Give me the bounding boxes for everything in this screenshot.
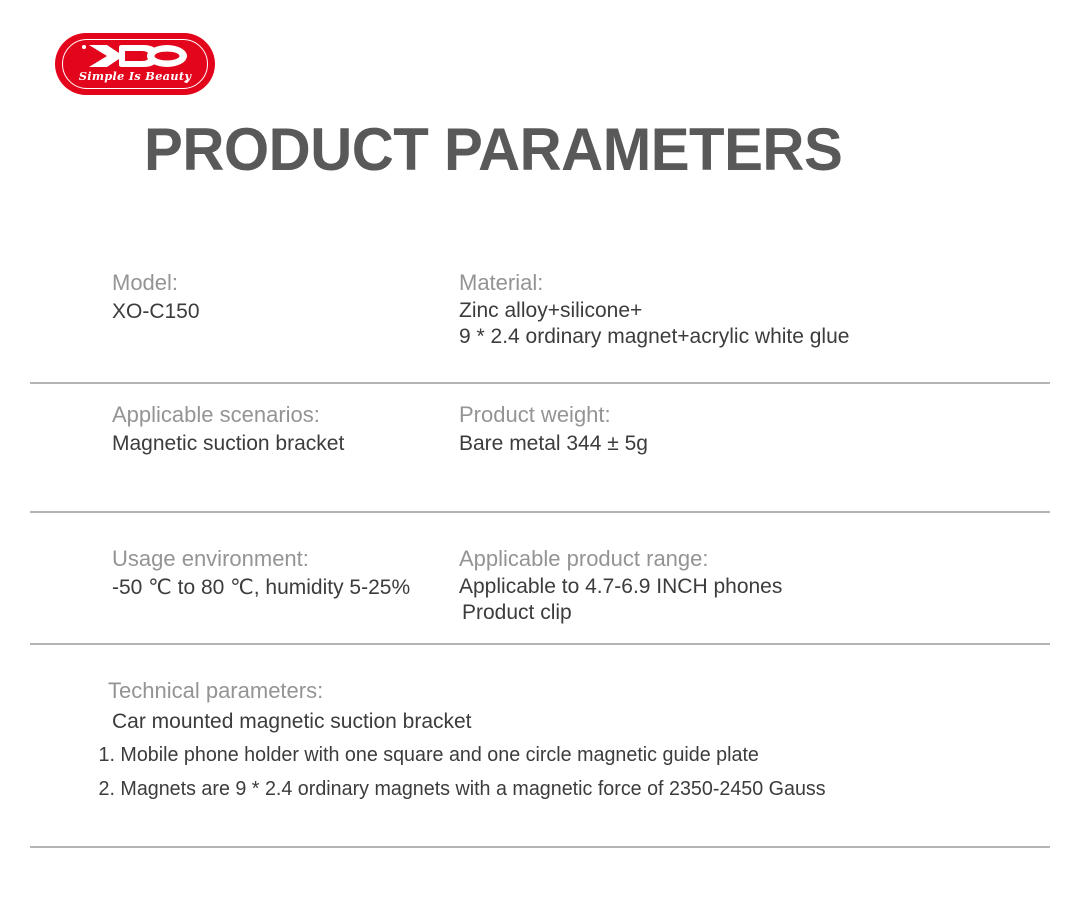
spec-cell-usage-environment: Usage environment: -50 ℃ to 80 ℃, humidi… [0, 544, 445, 602]
spec-cell-applicable-product-range: Applicable product range: Applicable to … [445, 544, 1080, 626]
xo-logo-icon [55, 41, 215, 71]
spec-value: Magnetic suction bracket [112, 430, 445, 458]
spec-cell-applicable-scenarios: Applicable scenarios: Magnetic suction b… [0, 400, 445, 458]
technical-item: 1. Mobile phone holder with one square a… [0, 738, 1064, 772]
spec-value: Bare metal 344 ± 5g [459, 430, 1080, 458]
spec-value: Applicable to 4.7-6.9 INCH phones [459, 574, 1080, 600]
spec-row: Applicable scenarios: Magnetic suction b… [0, 382, 1080, 529]
technical-item: 2. Magnets are 9 * 2.4 ordinary magnets … [0, 772, 1064, 806]
technical-parameters-block: Technical parameters: Car mounted magnet… [0, 658, 1080, 806]
spec-row: Usage environment: -50 ℃ to 80 ℃, humidi… [0, 529, 1080, 658]
spec-value: XO-C150 [112, 298, 445, 326]
spec-label: Product weight: [459, 400, 1080, 430]
technical-label: Technical parameters: [0, 676, 1080, 706]
row-divider [30, 511, 1050, 513]
spec-value: -50 ℃ to 80 ℃, humidity 5-25% [112, 574, 445, 602]
row-divider [30, 846, 1050, 848]
spec-label: Applicable product range: [459, 544, 1080, 574]
logo-tagline: Simple Is Beauty [55, 69, 215, 83]
spec-label: Material: [459, 268, 1080, 298]
page-title: PRODUCT PARAMETERS [144, 118, 842, 182]
spec-cell-material: Material: Zinc alloy+silicone+ 9 * 2.4 o… [445, 268, 1080, 350]
row-divider [30, 643, 1050, 645]
spec-value: 9 * 2.4 ordinary magnet+acrylic white gl… [459, 324, 1080, 350]
brand-logo: Simple Is Beauty [55, 33, 215, 95]
spec-label: Model: [112, 268, 445, 298]
spec-label: Applicable scenarios: [112, 400, 445, 430]
spec-label: Usage environment: [112, 544, 445, 574]
spec-row: Model: XO-C150 Material: Zinc alloy+sili… [0, 268, 1080, 382]
technical-headline: Car mounted magnetic suction bracket [0, 706, 1080, 738]
spec-table: Model: XO-C150 Material: Zinc alloy+sili… [0, 268, 1080, 806]
spec-value: Product clip [459, 600, 1080, 626]
spec-cell-model: Model: XO-C150 [0, 268, 445, 326]
spec-cell-product-weight: Product weight: Bare metal 344 ± 5g [445, 400, 1080, 458]
spec-value: Zinc alloy+silicone+ [459, 298, 1080, 324]
